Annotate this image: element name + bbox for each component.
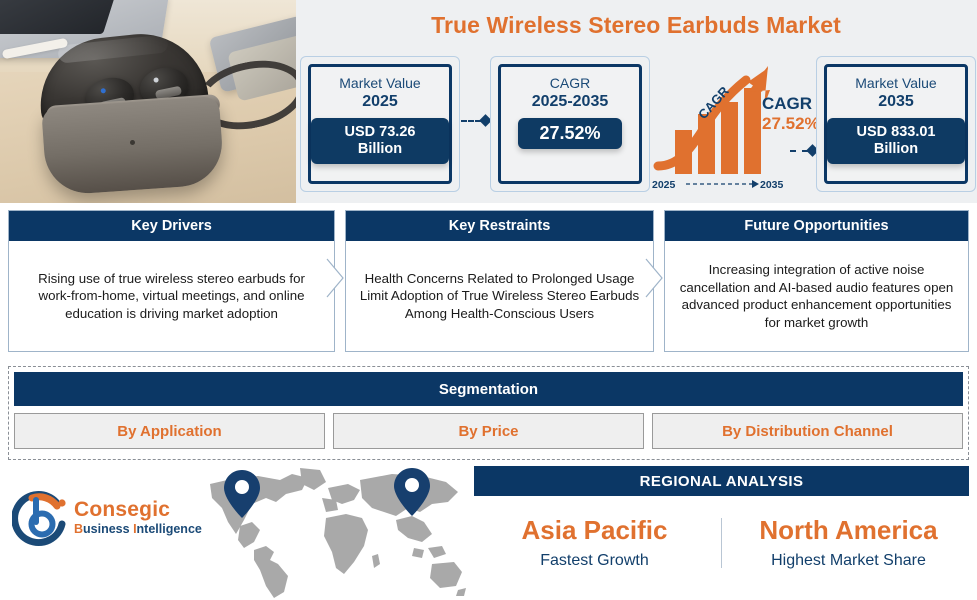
panel-text: Rising use of true wireless stereo earbu… (9, 241, 334, 351)
consegic-logo-icon (12, 490, 70, 548)
stat-card-market-value-2025: Market Value 2025 USD 73.26 Billion (300, 56, 460, 192)
cagr-side-label: CAGR (762, 94, 820, 114)
infographic-page: True Wireless Stereo Earbuds Market Mark… (0, 0, 977, 600)
chevron-right-icon (326, 258, 346, 298)
case-led (130, 140, 135, 145)
regional-analysis-row: Asia Pacific Fastest Growth North Americ… (474, 514, 969, 572)
regional-analysis-heading: REGIONAL ANALYSIS (474, 466, 969, 496)
segment-by-application[interactable]: By Application (14, 413, 325, 449)
axis-end-year: 2035 (760, 179, 784, 191)
laptop-screen-shape (0, 0, 118, 34)
panel-key-drivers: Key Drivers Rising use of true wireless … (8, 210, 335, 352)
world-map-svg (196, 464, 468, 600)
logo-tagline-b: B (74, 522, 83, 536)
stat-value-chip: USD 833.01 Billion (827, 118, 965, 164)
panel-heading: Key Restraints (346, 211, 653, 241)
bar-4 (744, 88, 761, 174)
panel-future-opportunities: Future Opportunities Increasing integrat… (664, 210, 969, 352)
panel-text: Increasing integration of active noise c… (665, 241, 968, 351)
region-name: North America (728, 514, 969, 546)
segmentation-section: Segmentation By Application By Price By … (8, 366, 969, 460)
panel-heading: Key Drivers (9, 211, 334, 241)
earbuds-case-body (41, 96, 225, 196)
world-map (196, 464, 468, 600)
bottom-section: Consegic Business Intelligence (0, 462, 977, 600)
driver-restraint-opportunity-row: Key Drivers Rising use of true wireless … (8, 210, 969, 352)
logo-tagline-ntelligence: ntelligence (137, 522, 202, 536)
regional-divider (721, 518, 722, 568)
axis-arrow-head (752, 180, 759, 188)
cagr-growth-chart: CAGR 2025 2035 CAGR 27.52% (652, 62, 812, 192)
logo-tagline: Business Intelligence (74, 522, 202, 537)
stat-value-chip: USD 73.26 Billion (311, 118, 449, 164)
logo-name: Consegic (74, 498, 202, 522)
axis-start-year: 2025 (652, 179, 676, 191)
regional-analysis-section: REGIONAL ANALYSIS Asia Pacific Fastest G… (474, 466, 969, 596)
region-note: Fastest Growth (474, 550, 715, 572)
earbud-indicator-left (100, 88, 106, 94)
segmentation-heading: Segmentation (14, 372, 963, 406)
stat-card-market-value-2035: Market Value 2035 USD 833.01 Billion (816, 56, 976, 192)
chevron-right-icon (645, 258, 665, 298)
cagr-side-callout: CAGR 27.52% (762, 94, 820, 134)
stat-value-chip: 27.52% (518, 118, 622, 149)
region-north-america: North America Highest Market Share (728, 514, 969, 572)
stat-year: 2025-2035 (532, 92, 609, 111)
stat-label: Market Value (855, 75, 936, 92)
brand-logo: Consegic Business Intelligence (10, 488, 215, 550)
panel-heading: Future Opportunities (665, 211, 968, 241)
stat-year: 2035 (878, 92, 914, 111)
bar-3 (721, 102, 738, 174)
stat-label: Market Value (339, 75, 420, 92)
segment-by-price[interactable]: By Price (333, 413, 644, 449)
hero-product-photo (0, 0, 296, 203)
stat-label: CAGR (550, 75, 590, 92)
stat-year: 2025 (362, 92, 398, 111)
earbud-indicator-right (153, 77, 159, 83)
key-metrics-chain: Market Value 2025 USD 73.26 Billion CAGR… (300, 56, 972, 192)
segmentation-row: By Application By Price By Distribution … (14, 413, 963, 449)
logo-wordmark: Consegic Business Intelligence (74, 498, 202, 537)
region-name: Asia Pacific (474, 514, 715, 546)
connector-dashed-1 (461, 120, 491, 122)
panel-key-restraints: Key Restraints Health Concerns Related t… (345, 210, 654, 352)
region-asia-pacific: Asia Pacific Fastest Growth (474, 514, 715, 572)
segment-by-distribution-channel[interactable]: By Distribution Channel (652, 413, 963, 449)
logo-tagline-usiness: usiness (83, 522, 133, 536)
page-title: True Wireless Stereo Earbuds Market (300, 12, 972, 39)
region-note: Highest Market Share (728, 550, 969, 572)
cagr-side-value: 27.52% (762, 114, 820, 134)
panel-text: Health Concerns Related to Prolonged Usa… (346, 241, 653, 351)
stat-card-cagr: CAGR 2025-2035 27.52% (490, 56, 650, 192)
